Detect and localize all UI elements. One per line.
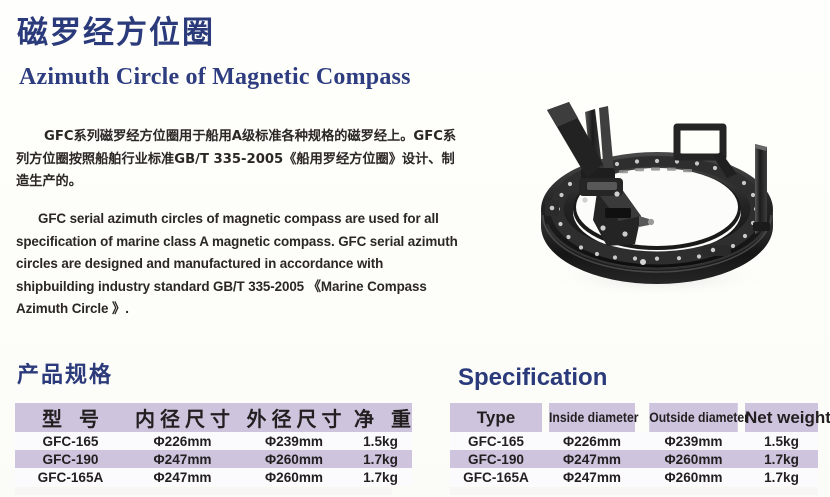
page-title-english: Azimuth Circle of Magnetic Compass <box>19 62 411 92</box>
column-header-outside-diameter: Outside diameter <box>649 403 738 432</box>
cell-model: GFC-165A <box>15 468 126 486</box>
table-row: GFC-190 Φ247mm Φ260mm 1.7kg <box>15 450 412 468</box>
cell-outside-diameter: Φ239mm <box>239 432 349 450</box>
table-row: GFC-165A Φ247mm Φ260mm 1.7kg <box>450 468 818 486</box>
cell-outside-diameter: Φ260mm <box>642 450 745 468</box>
product-datasheet-page: 磁罗经方位圈 Azimuth Circle of Magnetic Compas… <box>0 0 830 497</box>
cell-type: GFC-165A <box>450 468 542 486</box>
column-header-type: Type <box>450 403 542 432</box>
table-row: GFC-165 Φ226mm Φ239mm 1.5kg <box>15 432 412 450</box>
cell-net-weight: 1.5kg <box>349 432 412 450</box>
cell-type: GFC-190 <box>450 450 542 468</box>
cell-inside-diameter: Φ226mm <box>126 432 239 450</box>
column-header-net-weight: Net weight <box>745 403 818 432</box>
spec-table-english: Type Inside diameter Outside diameter Ne… <box>450 403 818 486</box>
table-row: GFC-190 Φ247mm Φ260mm 1.7kg <box>450 450 818 468</box>
front-screw-stud <box>640 259 646 265</box>
front-clamp <box>701 245 731 256</box>
cell-model: GFC-165 <box>15 432 126 450</box>
page-title-chinese: 磁罗经方位圈 <box>17 14 215 52</box>
spec-table-english-header: Type Inside diameter Outside diameter Ne… <box>450 403 818 432</box>
cell-model: GFC-190 <box>15 450 126 468</box>
cell-outside-diameter: Φ239mm <box>642 432 745 450</box>
left-stud-block <box>545 200 559 216</box>
description-paragraph-chinese: GFC系列磁罗经方位圈用于船用A级标准各种规格的磁罗经上。GFC系列方位圈按照船… <box>16 126 460 194</box>
spec-table-english-body: GFC-165 Φ226mm Φ239mm 1.5kg GFC-190 Φ247… <box>450 432 818 486</box>
section-heading-chinese: 产品规格 <box>17 357 113 389</box>
cell-net-weight: 1.7kg <box>745 468 818 486</box>
section-heading-english: Specification <box>458 364 607 392</box>
spec-table-chinese: 型 号 内径尺寸 外径尺寸 净 重 GFC-165 Φ226mm Φ239mm … <box>15 403 412 486</box>
column-header-outside-diameter: 外径尺寸 <box>239 403 349 432</box>
cell-inside-diameter: Φ247mm <box>126 468 239 486</box>
spec-table-chinese-body: GFC-165 Φ226mm Φ239mm 1.5kg GFC-190 Φ247… <box>15 432 412 486</box>
cell-inside-diameter: Φ247mm <box>126 450 239 468</box>
table-header-row: 型 号 内径尺寸 外径尺寸 净 重 <box>15 403 412 432</box>
column-header-inside-diameter: Inside diameter <box>549 403 635 432</box>
table-english-footer-band <box>450 487 818 495</box>
cell-net-weight: 1.7kg <box>349 468 412 486</box>
table-header-row: Type Inside diameter Outside diameter Ne… <box>450 403 818 432</box>
cell-net-weight: 1.7kg <box>349 450 412 468</box>
product-photo-azimuth-circle <box>487 82 827 312</box>
cell-inside-diameter: Φ247mm <box>542 468 642 486</box>
azimuth-circle-illustration <box>487 82 827 312</box>
table-row: GFC-165A Φ247mm Φ260mm 1.7kg <box>15 468 412 486</box>
cell-net-weight: 1.7kg <box>745 450 818 468</box>
cell-outside-diameter: Φ260mm <box>239 468 349 486</box>
column-header-model: 型 号 <box>15 403 126 432</box>
table-row: GFC-165 Φ226mm Φ239mm 1.5kg <box>450 432 818 450</box>
cell-inside-diameter: Φ226mm <box>542 432 642 450</box>
cell-inside-diameter: Φ247mm <box>542 450 642 468</box>
cell-net-weight: 1.5kg <box>745 432 818 450</box>
cell-outside-diameter: Φ260mm <box>239 450 349 468</box>
description-paragraph-english: GFC serial azimuth circles of magnetic c… <box>16 208 460 321</box>
table-chinese-footer-band <box>15 487 392 495</box>
column-header-inside-diameter: 内径尺寸 <box>126 403 239 432</box>
spec-table-chinese-header: 型 号 内径尺寸 外径尺寸 净 重 <box>15 403 412 432</box>
column-header-net-weight: 净 重 <box>349 403 412 432</box>
cell-outside-diameter: Φ260mm <box>642 468 745 486</box>
cell-type: GFC-165 <box>450 432 542 450</box>
